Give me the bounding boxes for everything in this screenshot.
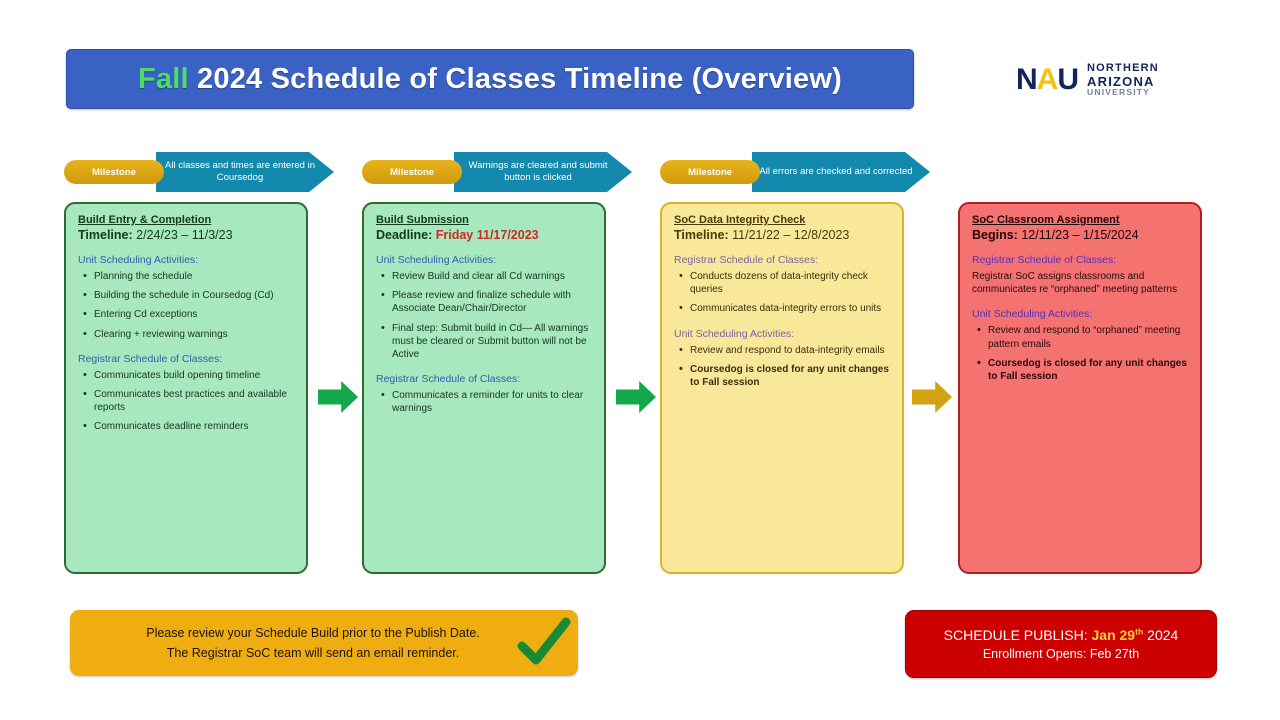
list-item: Review and respond to “orphaned” meeting…: [988, 324, 1188, 350]
slide-canvas: Fall 2024 Schedule of Classes Timeline (…: [0, 0, 1280, 720]
card-title-2: Build Submission: [376, 214, 592, 226]
card-section-1b: Registrar Schedule of Classes:: [78, 353, 294, 365]
milestone-text-2: Warnings are cleared and submit button i…: [454, 160, 632, 184]
card-sub-label-4: Begins:: [972, 228, 1018, 242]
list-item: Conducts dozens of data-integrity check …: [690, 270, 890, 296]
publish-line: SCHEDULE PUBLISH: Jan 29th 2024: [944, 625, 1179, 645]
list-item: Communicates data-integrity errors to un…: [690, 302, 890, 315]
page-title: Fall 2024 Schedule of Classes Timeline (…: [138, 63, 842, 96]
enrollment-line: Enrollment Opens: Feb 27th: [983, 645, 1139, 663]
stage-card-classroom-assignment: SoC Classroom Assignment Begins: 12/11/2…: [958, 202, 1202, 574]
milestone-pill-2: Milestone: [362, 160, 462, 184]
card-sub-label-3: Timeline:: [674, 228, 729, 242]
review-reminder-text: Please review your Schedule Build prior …: [146, 623, 502, 663]
card-subtitle-4: Begins: 12/11/23 – 1/15/2024: [972, 228, 1188, 242]
list-item: Communicates a reminder for units to cle…: [392, 389, 592, 415]
card-subtitle-2: Deadline: Friday 11/17/2023: [376, 228, 592, 242]
card-title-4: SoC Classroom Assignment: [972, 214, 1188, 226]
card-section-1a: Unit Scheduling Activities:: [78, 254, 294, 266]
list-item: Please review and finalize schedule with…: [392, 289, 592, 315]
logo-line-arizona: ARIZONA: [1087, 75, 1159, 88]
nau-logo-wordmark: NORTHERN ARIZONA UNIVERSITY: [1087, 63, 1159, 96]
card-bullets-3a: Conducts dozens of data-integrity check …: [674, 270, 890, 316]
card-sub-label-2: Deadline:: [376, 228, 432, 242]
publish-date-year: 2024: [1143, 627, 1178, 643]
milestone-text-1: All classes and times are entered in Cou…: [156, 160, 334, 184]
card-bullets-3b: Review and respond to data-integrity ema…: [674, 344, 890, 390]
milestone-banner-3: All errors are checked and corrected Mil…: [660, 152, 940, 192]
list-item: Review Build and clear all Cd warnings: [392, 270, 592, 283]
list-item: Final step: Submit build in Cd— All warn…: [392, 322, 592, 362]
list-item: Review and respond to data-integrity ema…: [690, 344, 890, 357]
flow-arrow-icon-3: [912, 380, 952, 414]
logo-line-northern: NORTHERN: [1087, 63, 1159, 74]
list-item: Communicates deadline reminders: [94, 420, 294, 433]
card-bullets-4b: Review and respond to “orphaned” meeting…: [972, 324, 1188, 383]
enrollment-label: Enrollment Opens:: [983, 647, 1087, 661]
schedule-publish-banner: SCHEDULE PUBLISH: Jan 29th 2024 Enrollme…: [905, 610, 1217, 678]
milestone-pill-label-1: Milestone: [92, 167, 136, 178]
milestone-arrow-2: Warnings are cleared and submit button i…: [454, 152, 632, 192]
card-section-3a: Registrar Schedule of Classes:: [674, 254, 890, 266]
review-reminder-banner: Please review your Schedule Build prior …: [70, 610, 578, 676]
flow-arrow-icon-1: [318, 380, 358, 414]
card-section-3b: Unit Scheduling Activities:: [674, 328, 890, 340]
card-title-3: SoC Data Integrity Check: [674, 214, 890, 226]
list-item: Clearing + reviewing warnings: [94, 328, 294, 341]
card-body-4a: Registrar SoC assigns classrooms and com…: [972, 270, 1188, 296]
card-subtitle-1: Timeline: 2/24/23 – 11/3/23: [78, 228, 294, 242]
card-section-4b: Unit Scheduling Activities:: [972, 308, 1188, 320]
publish-label: SCHEDULE PUBLISH:: [944, 627, 1088, 643]
card-title-1: Build Entry & Completion: [78, 214, 294, 226]
publish-date-month: Jan 29: [1092, 627, 1136, 643]
page-title-highlight: Fall: [138, 63, 189, 95]
page-title-rest: 2024 Schedule of Classes Timeline (Overv…: [189, 63, 842, 95]
card-section-2a: Unit Scheduling Activities:: [376, 254, 592, 266]
list-item: Building the schedule in Coursedog (Cd): [94, 289, 294, 302]
milestone-pill-label-2: Milestone: [390, 167, 434, 178]
page-title-bar: Fall 2024 Schedule of Classes Timeline (…: [66, 49, 914, 109]
card-bullets-2b: Communicates a reminder for units to cle…: [376, 389, 592, 415]
card-section-2b: Registrar Schedule of Classes:: [376, 373, 592, 385]
stage-card-data-integrity: SoC Data Integrity Check Timeline: 11/21…: [660, 202, 904, 574]
review-reminder-line2: The Registrar SoC team will send an emai…: [146, 643, 480, 663]
list-item: Communicates build opening timeline: [94, 369, 294, 382]
milestone-pill-3: Milestone: [660, 160, 760, 184]
milestone-pill-label-3: Milestone: [688, 167, 732, 178]
list-item: Entering Cd exceptions: [94, 308, 294, 321]
logo-line-university: UNIVERSITY: [1087, 88, 1159, 97]
card-sub-value-4: 12/11/23 – 1/15/2024: [1021, 228, 1138, 242]
milestone-arrow-1: All classes and times are entered in Cou…: [156, 152, 334, 192]
card-bullets-1a: Planning the schedule Building the sched…: [78, 270, 294, 341]
card-subtitle-3: Timeline: 11/21/22 – 12/8/2023: [674, 228, 890, 242]
card-section-4a: Registrar Schedule of Classes:: [972, 254, 1188, 266]
card-sub-value-2: Friday 11/17/2023: [436, 228, 539, 242]
milestone-banner-2: Warnings are cleared and submit button i…: [362, 152, 642, 192]
card-sub-label-1: Timeline:: [78, 228, 133, 242]
card-sub-value-3: 11/21/22 – 12/8/2023: [732, 228, 849, 242]
list-item: Coursedog is closed for any unit changes…: [690, 363, 890, 389]
flow-arrow-icon-2: [616, 380, 656, 414]
stage-card-build-submission: Build Submission Deadline: Friday 11/17/…: [362, 202, 606, 574]
card-bullets-1b: Communicates build opening timeline Comm…: [78, 369, 294, 434]
stage-card-build-entry: Build Entry & Completion Timeline: 2/24/…: [64, 202, 308, 574]
milestone-pill-1: Milestone: [64, 160, 164, 184]
card-sub-value-1: 2/24/23 – 11/3/23: [136, 228, 232, 242]
milestone-arrow-3: All errors are checked and corrected: [752, 152, 930, 192]
card-bullets-2a: Review Build and clear all Cd warnings P…: [376, 270, 592, 361]
nau-logo-mark: NAU: [1016, 65, 1078, 95]
enrollment-date: Feb 27th: [1090, 647, 1139, 661]
review-reminder-line1: Please review your Schedule Build prior …: [146, 623, 480, 643]
nau-logo: NAU NORTHERN ARIZONA UNIVERSITY: [1016, 56, 1216, 104]
milestone-banner-1: All classes and times are entered in Cou…: [64, 152, 344, 192]
list-item: Planning the schedule: [94, 270, 294, 283]
list-item: Coursedog is closed for any unit changes…: [988, 357, 1188, 383]
list-item: Communicates best practices and availabl…: [94, 388, 294, 414]
milestone-text-3: All errors are checked and corrected: [755, 166, 926, 178]
